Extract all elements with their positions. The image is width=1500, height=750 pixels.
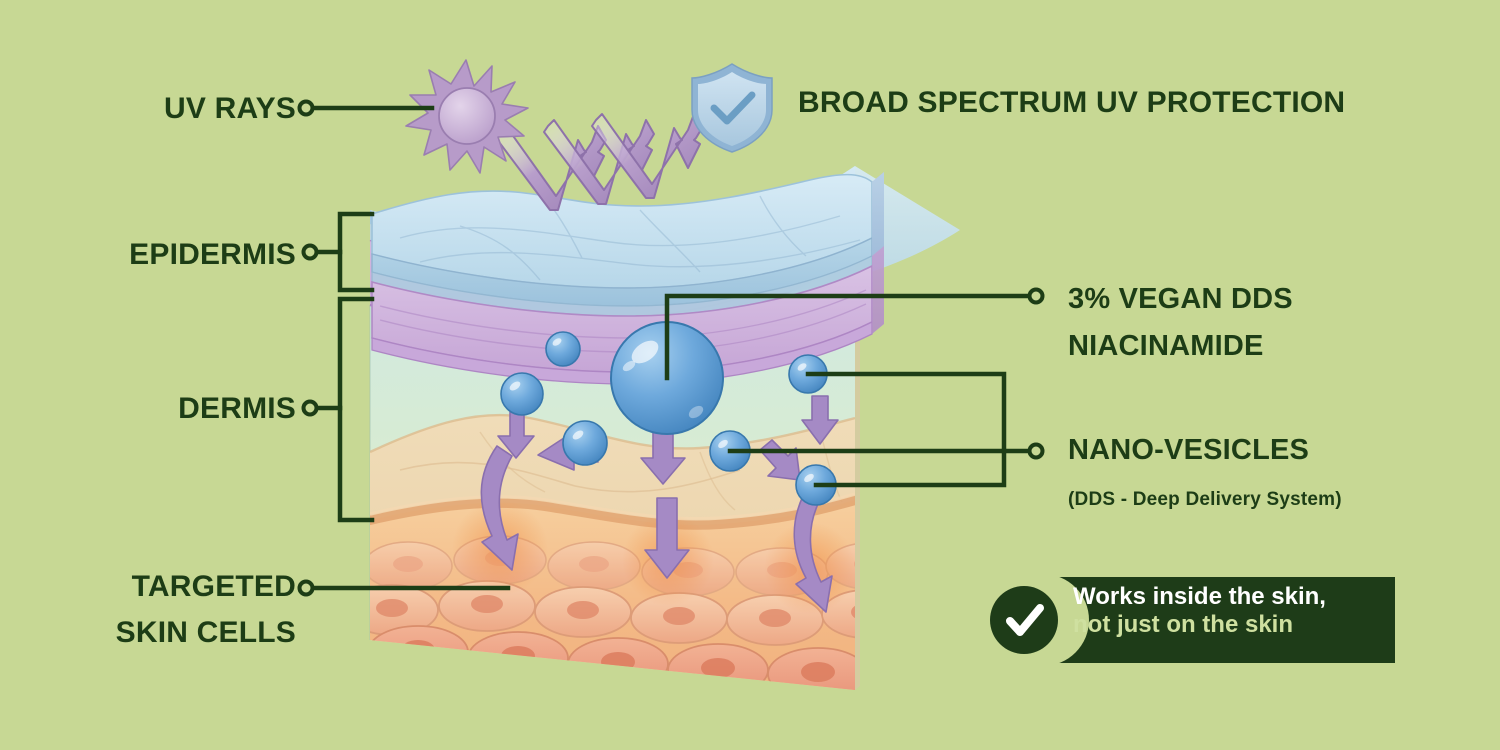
badge-line-2: not just on the skin <box>1073 611 1393 639</box>
shield-check-icon <box>692 64 772 152</box>
vesicle <box>563 421 607 465</box>
callout-bracket-dermis <box>304 299 373 520</box>
badge-line-1: Works inside the skin, <box>1073 583 1393 611</box>
infographic-canvas: UV RAYS EPIDERMIS DERMIS TARGETED SKIN C… <box>0 0 1500 750</box>
label-epidermis: EPIDERMIS <box>0 238 296 272</box>
label-nano-vesicles-sub: (DDS - Deep Delivery System) <box>1068 489 1342 511</box>
badge-text-block: Works inside the skin, not just on the s… <box>1073 583 1393 640</box>
label-uv-rays: UV RAYS <box>0 92 296 126</box>
vesicle <box>546 332 580 366</box>
label-vegan-dds-line1: 3% VEGAN DDS <box>1068 283 1293 316</box>
label-nano-vesicles: NANO-VESICLES <box>1068 434 1309 467</box>
vesicle <box>501 373 543 415</box>
callout-line-uv-rays <box>300 102 433 115</box>
label-dermis: DERMIS <box>0 392 296 426</box>
callout-bracket-epidermis <box>304 214 373 290</box>
label-targeted-skin-cells-line1: TARGETED <box>0 570 296 604</box>
label-broad-spectrum-uv-protection: BROAD SPECTRUM UV PROTECTION <box>798 86 1345 120</box>
label-targeted-skin-cells-line2: SKIN CELLS <box>0 616 296 650</box>
label-vegan-dds-line2: NIACINAMIDE <box>1068 330 1264 363</box>
check-circle-icon <box>990 586 1058 654</box>
